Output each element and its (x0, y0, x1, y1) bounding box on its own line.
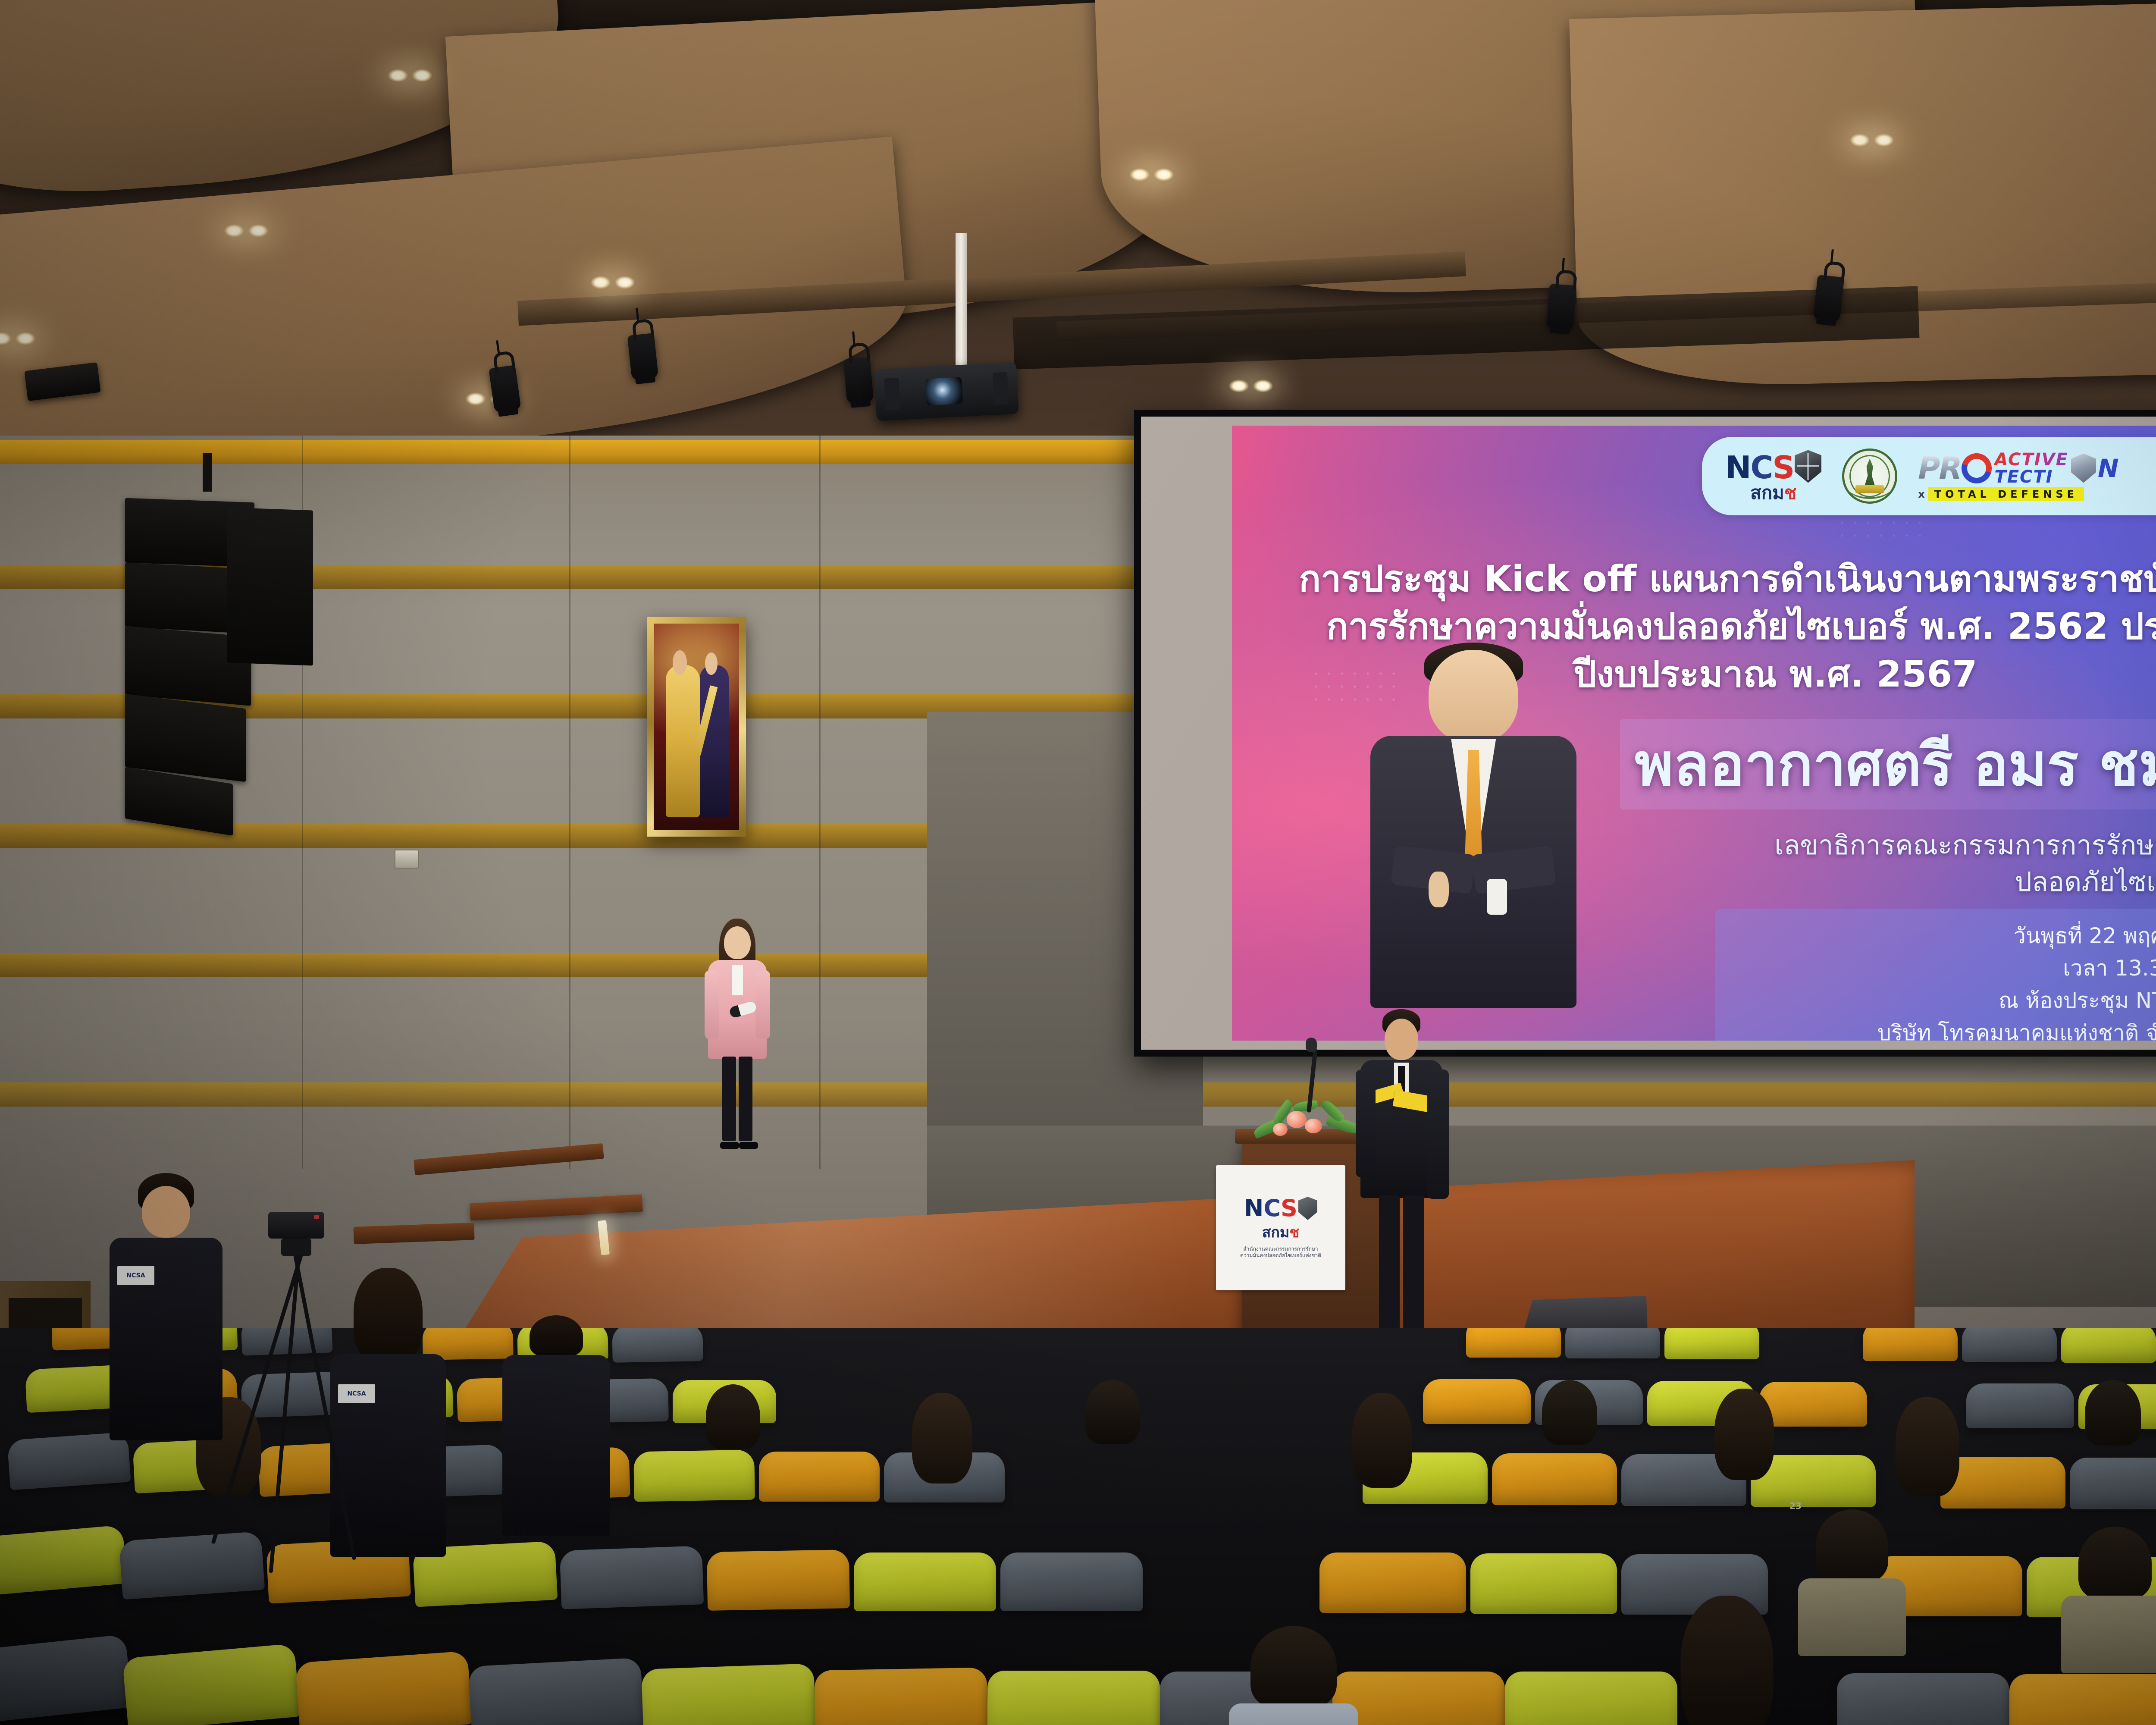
speaker-name-plate: พลอากาศตรี อมร ชมเชย (1620, 719, 2156, 809)
seat[interactable] (854, 1552, 996, 1611)
tection-text: TECTI (1994, 468, 2068, 486)
projection-screen-frame: N C S สกมช (1134, 410, 2156, 1057)
speaker-arm (1427, 1069, 1449, 1199)
podium-subtitle-line1: สำนักงานคณะกรรมการการรักษา (1240, 1246, 1321, 1252)
proactive-protection-logo: PR ACTIVE TECTI N x (1918, 451, 2118, 501)
podium-shield-a-icon (1298, 1197, 1317, 1220)
projector-mount-pole (956, 233, 967, 371)
audience-member-uniform (2065, 1527, 2156, 1656)
podium-ncsa-sign: N C S สกมช สำนักงานคณะกรรมการการรักษา คว… (1216, 1165, 1345, 1290)
seat[interactable] (759, 1452, 880, 1502)
speaker-name: พลอากาศตรี อมร ชมเชย (1635, 718, 2156, 811)
projection-screen: N C S สกมช (1141, 417, 2156, 1050)
ncsa-staff-member: NCSA (108, 1173, 224, 1561)
seat[interactable] (1000, 1552, 1143, 1611)
stage-spotlight (843, 357, 874, 404)
speaker-role-line2: ปลอดภัยไซเบอร์แห่งชาติ (1620, 863, 2156, 900)
ncsa-letter-c: C (1750, 452, 1772, 483)
circular-arrow-icon (1962, 453, 1992, 483)
seat[interactable] (1962, 1328, 2057, 1362)
ncsa-letter-s: S (1772, 452, 1794, 483)
seat[interactable] (468, 1658, 644, 1725)
speaker-headshot (1361, 650, 1586, 1008)
audience-member (2078, 1380, 2147, 1479)
mc-arm (755, 970, 770, 1039)
ncsa-letter-n: N (1725, 452, 1750, 483)
podium-flower-arrangement (1250, 1100, 1363, 1147)
audience-member (906, 1393, 979, 1496)
line-array-speaker (125, 483, 310, 828)
seat[interactable] (1466, 1328, 1561, 1358)
podium-letter-c: C (1263, 1197, 1281, 1220)
event-organization: บริษัท โทรคมนาคมแห่งชาติ จำกัด (มหาชน) (1730, 1017, 2156, 1041)
seat-number: 23 (1789, 1501, 1802, 1511)
seat[interactable] (815, 1668, 988, 1725)
seat[interactable] (295, 1651, 473, 1725)
speaker-arm (1356, 1069, 1376, 1177)
camera-tripod (241, 1207, 379, 1639)
protection-shield-icon (2071, 454, 2096, 483)
slide-logo-bar: N C S สกมช (1702, 437, 2156, 515)
stage-spotlight (1546, 284, 1576, 330)
audience-member (1889, 1397, 1966, 1509)
seat[interactable] (1837, 1673, 2009, 1725)
ncsa-jacket-patch: NCSA (117, 1266, 154, 1285)
mc-presenter (703, 919, 772, 1160)
mc-arm (705, 970, 719, 1039)
ministry-seal-icon (1842, 448, 1897, 504)
ncsa-staff-jacket (502, 1355, 610, 1536)
mc-shoe (739, 1142, 758, 1149)
event-venue: ณ ห้องประชุม NT Auditorium (1730, 985, 2156, 1017)
active-text: ACTIVE (1994, 451, 2068, 468)
ncsa-staff-member (500, 1315, 612, 1660)
pro-text: PR (1918, 453, 1961, 483)
video-camera[interactable] (268, 1212, 324, 1239)
podium-letter-n: N (1244, 1197, 1263, 1220)
slide-title-line1: การประชุม Kick off แผนการดำเนินงานตามพระ… (1258, 555, 2156, 603)
ceiling-projector (874, 362, 1019, 421)
audience-member (1708, 1389, 1781, 1492)
mc-shoe (720, 1142, 739, 1149)
seat[interactable] (1565, 1328, 1660, 1358)
stage-spotlight (627, 333, 659, 380)
audience-member (1238, 1626, 1350, 1725)
projector-lens (925, 377, 963, 405)
seat[interactable] (1966, 1383, 2074, 1428)
event-time: เวลา 13.30 – 15.30 น. (1730, 952, 2156, 985)
ncsa-logo: N C S สกมช (1725, 450, 1821, 502)
podium-thai-abbrev: สกมช (1262, 1220, 1300, 1244)
audience-member (1535, 1380, 1604, 1475)
ncsa-thai-abbrev: สกมช (1750, 484, 1796, 502)
seat[interactable] (1470, 1553, 1617, 1614)
seat[interactable] (122, 1643, 300, 1725)
seat[interactable] (641, 1663, 816, 1725)
ceiling (0, 0, 2156, 457)
seat[interactable] (707, 1549, 850, 1611)
x-separator: x (1918, 489, 1924, 499)
seat[interactable] (612, 1328, 703, 1363)
speaker-role-line1: เลขาธิการคณะกรรมการการรักษาความมั่นคง (1620, 827, 2156, 864)
ncsa-shield-a-icon (1795, 450, 1821, 483)
seat[interactable] (1664, 1328, 1759, 1359)
seat[interactable] (1863, 1328, 1958, 1361)
tripod-head[interactable] (281, 1239, 311, 1256)
audience-member-uniform (1802, 1509, 1902, 1639)
protection-letter-n: N (2098, 456, 2119, 481)
audience-member (699, 1384, 768, 1479)
stage-step-rail (414, 1143, 604, 1175)
podium-subtitle-line2: ความมั่นคงปลอดภัยไซเบอร์แห่งชาติ (1240, 1252, 1321, 1259)
wall-control-box[interactable] (395, 850, 419, 869)
total-defense-text: TOTAL DEFENSE (1928, 487, 2084, 501)
speaker-role: เลขาธิการคณะกรรมการการรักษาความมั่นคง ปล… (1620, 827, 2156, 900)
auditorium-scene: N C S สกมช (0, 0, 2156, 1725)
audience-member (1673, 1596, 1781, 1725)
presentation-slide: N C S สกมช (1232, 426, 2156, 1041)
audience-member (1078, 1380, 1147, 1475)
podium-microphone-head (1306, 1038, 1317, 1052)
seat[interactable] (987, 1671, 1160, 1725)
seat[interactable] (1319, 1552, 1466, 1613)
seat[interactable] (2061, 1328, 2156, 1363)
event-details-box: วันพุธที่ 22 พฤศจิกายน 2566 เวลา 13.30 –… (1715, 909, 2156, 1041)
seat[interactable] (1423, 1379, 1531, 1424)
stage-spotlight (1813, 275, 1845, 322)
podium-letter-s: S (1281, 1197, 1297, 1220)
seat[interactable] (2009, 1674, 2156, 1725)
seat[interactable] (1505, 1672, 1677, 1725)
event-date: วันพุธที่ 22 พฤศจิกายน 2566 (1730, 920, 2156, 952)
royal-portrait (647, 617, 746, 837)
seat[interactable] (1332, 1672, 1505, 1725)
stage-step (470, 1195, 643, 1221)
audience-member (1345, 1393, 1419, 1496)
